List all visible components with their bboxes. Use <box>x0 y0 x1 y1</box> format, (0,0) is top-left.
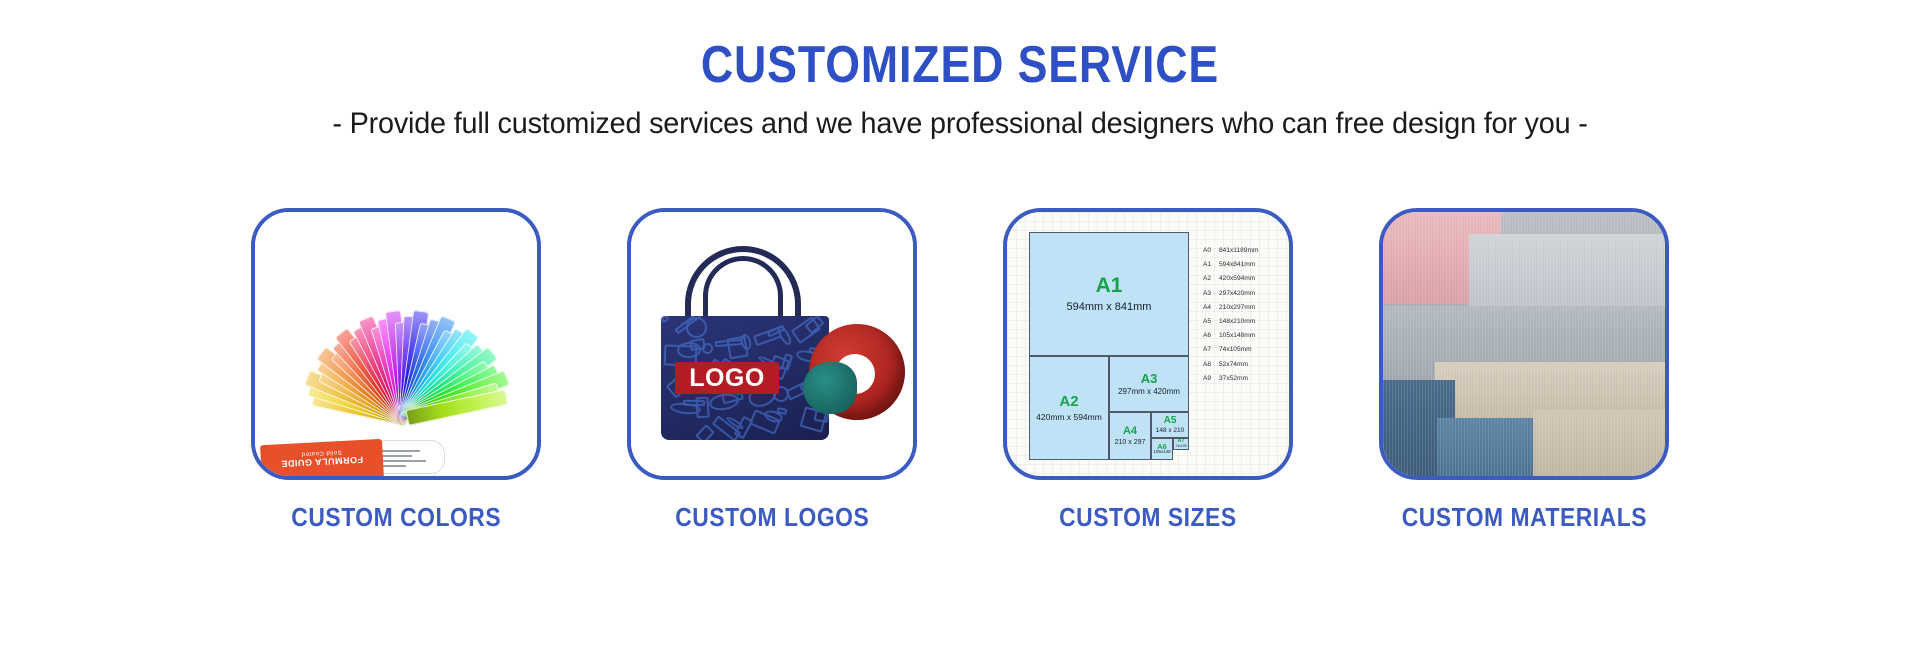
paper-block-a6: A6 105x148 <box>1151 438 1173 460</box>
paper-block-a6-dim: 105x148 <box>1153 450 1170 455</box>
service-card-custom-sizes[interactable]: A1 594mm x 841mm A2 420mm x 594mm A3 297… <box>1003 208 1293 533</box>
paper-size-value: 74x105mm <box>1219 347 1252 354</box>
pantone-fan-deck-image: FORMULA GUIDE Solid Coated <box>255 212 537 476</box>
custom-colors-image-frame[interactable]: FORMULA GUIDE Solid Coated <box>251 208 541 480</box>
paper-size-value: 841x1189mm <box>1219 248 1258 255</box>
service-card-row: FORMULA GUIDE Solid Coated CUSTOM COLORS <box>0 208 1920 533</box>
color-fan-blades <box>267 224 535 424</box>
card-label-custom-logos: CUSTOM LOGOS <box>675 502 869 533</box>
paper-size-reference-row: A2420x594mm <box>1203 276 1293 283</box>
paper-size-reference-row: A0841x1189mm <box>1203 248 1293 255</box>
paper-block-a1: A1 594mm x 841mm <box>1029 232 1189 356</box>
paper-size-reference-row: A937x52mm <box>1203 376 1293 383</box>
bag-doodle-mark <box>695 424 715 440</box>
fabric-swatch-lightgray <box>1469 234 1665 312</box>
paper-block-a5-name: A5 <box>1164 416 1177 426</box>
service-card-custom-materials[interactable]: CUSTOM MATERIALS <box>1379 208 1669 533</box>
paper-size-reference-row: A6105x148mm <box>1203 333 1293 340</box>
customized-service-banner: CUSTOMIZED SERVICE - Provide full custom… <box>0 0 1920 649</box>
paper-size-reference-list: A0841x1189mmA1594x841mmA2420x594mmA3297x… <box>1203 248 1293 390</box>
custom-logos-image-frame[interactable]: LOGO <box>627 208 917 480</box>
paper-size-key: A8 <box>1203 362 1219 369</box>
paper-size-key: A6 <box>1203 333 1219 340</box>
bag-doodle-mark <box>661 316 670 324</box>
card-label-custom-colors: CUSTOM COLORS <box>291 502 501 533</box>
fabric-swatch-stack-image <box>1383 212 1665 476</box>
paper-size-reference-row: A5148x210mm <box>1203 319 1293 326</box>
service-card-custom-logos[interactable]: LOGO CUSTOM LOGOS <box>627 208 917 533</box>
paper-block-a7: A7 74x105 <box>1173 438 1189 450</box>
paper-block-a4-name: A4 <box>1123 426 1137 437</box>
paper-size-value: 148x210mm <box>1219 319 1255 326</box>
paper-size-blocks: A1 594mm x 841mm A2 420mm x 594mm A3 297… <box>1029 232 1189 460</box>
bag-doodle-mark <box>753 327 782 347</box>
paper-size-value: 52x74mm <box>1219 362 1248 369</box>
formula-guide-title: FORMULA GUIDE <box>281 455 364 469</box>
paper-block-a3-name: A3 <box>1141 372 1158 385</box>
fabric-swatch-beige-bottom <box>1533 410 1665 476</box>
paper-block-a3-dim: 297mm x 420mm <box>1118 388 1180 397</box>
paper-size-value: 297x420mm <box>1219 291 1255 298</box>
card-label-custom-materials: CUSTOM MATERIALS <box>1401 502 1646 533</box>
paper-size-reference-row: A3297x420mm <box>1203 291 1293 298</box>
paper-block-a4-dim: 210 x 297 <box>1115 439 1146 447</box>
paper-block-a5-dim: 148 x 210 <box>1156 427 1185 434</box>
logo-badge-text: LOGO <box>689 364 765 393</box>
paper-size-value: 37x52mm <box>1219 376 1248 383</box>
banner-header: CUSTOMIZED SERVICE - Provide full custom… <box>0 0 1920 141</box>
paper-block-a4: A4 210 x 297 <box>1109 412 1151 460</box>
custom-materials-image-frame[interactable] <box>1379 208 1669 480</box>
paper-size-key: A4 <box>1203 305 1219 312</box>
page-title: CUSTOMIZED SERVICE <box>134 38 1785 93</box>
page-subtitle: - Provide full customized services and w… <box>38 107 1881 141</box>
paper-block-a7-dim: 74x105 <box>1175 445 1186 449</box>
paper-size-reference-row: A4210x297mm <box>1203 305 1293 312</box>
paper-size-reference-row: A1594x841mm <box>1203 262 1293 269</box>
paper-size-key: A0 <box>1203 248 1219 255</box>
paper-size-reference-row: A774x105mm <box>1203 347 1293 354</box>
formula-guide-label: FORMULA GUIDE Solid Coated <box>260 439 384 480</box>
paper-size-key: A5 <box>1203 319 1219 326</box>
paper-block-a2: A2 420mm x 594mm <box>1029 356 1109 460</box>
paper-size-diagram: A1 594mm x 841mm A2 420mm x 594mm A3 297… <box>1007 212 1289 476</box>
custom-sizes-image-frame[interactable]: A1 594mm x 841mm A2 420mm x 594mm A3 297… <box>1003 208 1293 480</box>
paper-size-key: A2 <box>1203 276 1219 283</box>
paper-block-a1-dim: 594mm x 841mm <box>1067 301 1152 313</box>
paper-size-key: A3 <box>1203 291 1219 298</box>
paper-size-key: A9 <box>1203 376 1219 383</box>
paper-block-a3: A3 297mm x 420mm <box>1109 356 1189 412</box>
paper-block-a2-dim: 420mm x 594mm <box>1036 413 1102 422</box>
paper-size-key: A7 <box>1203 347 1219 354</box>
paper-block-a2-name: A2 <box>1059 394 1078 409</box>
logo-badge: LOGO <box>675 362 779 394</box>
service-card-custom-colors[interactable]: FORMULA GUIDE Solid Coated CUSTOM COLORS <box>251 208 541 533</box>
card-label-custom-sizes: CUSTOM SIZES <box>1059 502 1237 533</box>
paper-size-reference-row: A852x74mm <box>1203 362 1293 369</box>
paper-size-value: 420x594mm <box>1219 276 1255 283</box>
paper-size-key: A1 <box>1203 262 1219 269</box>
neck-pillow-teal <box>803 362 857 414</box>
paper-size-value: 210x297mm <box>1219 305 1255 312</box>
paper-block-a1-name: A1 <box>1096 275 1123 296</box>
tote-bag-image: LOGO <box>631 212 913 476</box>
bag-doodle-mark <box>708 392 740 412</box>
bag-doodle-mark <box>702 343 713 354</box>
fabric-swatch-blue <box>1437 418 1547 476</box>
paper-size-value: 105x148mm <box>1219 333 1255 340</box>
paper-size-value: 594x841mm <box>1219 262 1255 269</box>
paper-block-a5: A5 148 x 210 <box>1151 412 1189 438</box>
